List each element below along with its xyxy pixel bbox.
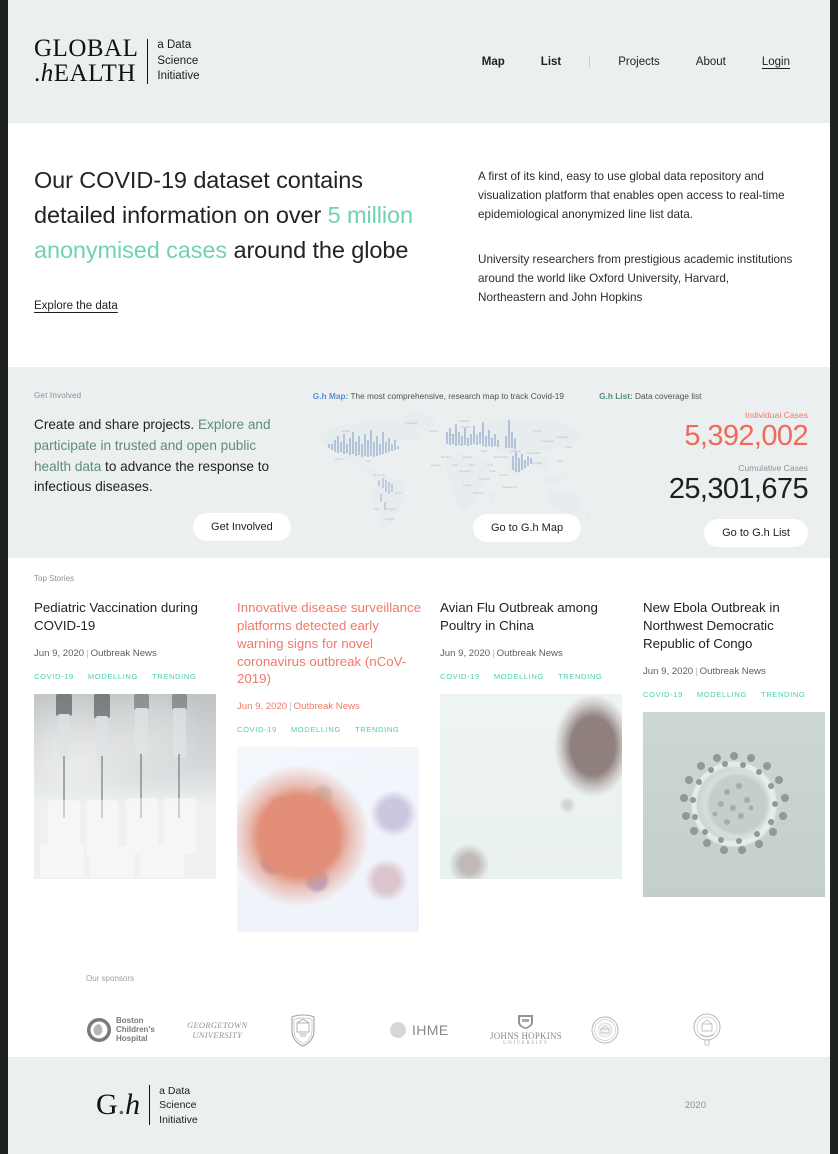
list-panel: G.h List: Data coverage list Individual … <box>599 391 808 532</box>
ihme-wordmark: IHME <box>412 1022 449 1038</box>
site-logo[interactable]: GLOBAL .hEALTH a Data Science Initiative <box>34 37 200 86</box>
footer-logo-divider <box>149 1085 150 1125</box>
svg-text:Tanzania: Tanzania <box>479 477 490 481</box>
story-title: Pediatric Vaccination during COVID-19 <box>34 599 219 635</box>
sponsor-line-1: JOHNS HOPKINS <box>490 1031 562 1041</box>
story-meta: Jun 9, 2020|Outbreak News <box>237 701 422 712</box>
hero-section: Our COVID-19 dataset contains detailed i… <box>8 123 830 334</box>
story-tag-list: COVID-19 MODELLING TRENDING <box>440 672 625 681</box>
story-source: Outbreak News <box>700 666 766 677</box>
svg-text:Ireland: Ireland <box>449 433 457 437</box>
story-tag-list: COVID-19 MODELLING TRENDING <box>643 690 828 699</box>
hero-heading-part2: around the globe <box>233 237 408 263</box>
svg-text:Venezuela: Venezuela <box>373 473 386 477</box>
story-card[interactable]: Avian Flu Outbreak among Poultry in Chin… <box>440 599 625 933</box>
boston-childrens-hospital-icon <box>86 1017 112 1043</box>
page-edge-left <box>0 0 8 1154</box>
hero-heading: Our COVID-19 dataset contains detailed i… <box>34 163 434 267</box>
story-source: Outbreak News <box>91 648 157 659</box>
world-map-thumbnail[interactable]: Canada Mexico Cuba Greenland Venezuela B… <box>313 410 581 538</box>
svg-text:Paraguay: Paraguay <box>385 507 397 511</box>
story-card-list: Pediatric Vaccination during COVID-19 Ju… <box>34 599 830 933</box>
svg-text:Chad: Chad <box>487 463 494 467</box>
story-tag-list: COVID-19 MODELLING TRENDING <box>237 725 422 734</box>
hero-paragraph-1: A first of its kind, easy to use global … <box>478 168 798 225</box>
nav-item-projects[interactable]: Projects <box>600 56 678 68</box>
story-tag[interactable]: TRENDING <box>558 672 602 681</box>
map-panel: G.h Map: The most comprehensive, researc… <box>313 391 581 532</box>
footer-wordmark: G.h <box>96 1090 140 1120</box>
map-panel-label: G.h Map: The most comprehensive, researc… <box>313 391 581 401</box>
svg-text:Mongolia: Mongolia <box>557 435 568 439</box>
individual-cases-value: 5,392,002 <box>599 421 808 451</box>
footer-copyright-year: 2020 <box>685 1100 804 1111</box>
story-tag[interactable]: COVID-19 <box>237 725 277 734</box>
story-card[interactable]: Innovative disease surveillance platform… <box>237 599 422 933</box>
sponsor-harvard-university-crest[interactable] <box>288 1013 389 1047</box>
svg-text:Kyrgyzstan: Kyrgyzstan <box>541 439 554 443</box>
svg-text:Russia: Russia <box>533 429 541 433</box>
sponsor-ihme[interactable]: IHME <box>389 1021 490 1039</box>
get-involved-panel: Get Involved Create and share projects. … <box>34 391 291 532</box>
logo-tagline-line3: Initiative <box>157 69 199 85</box>
svg-text:Greenland: Greenland <box>405 421 418 425</box>
logo-line-health: .hEALTH <box>34 62 138 87</box>
story-tag[interactable]: MODELLING <box>697 690 747 699</box>
story-tag[interactable]: COVID-19 <box>440 672 480 681</box>
get-involved-lead-part1: Create and share projects. <box>34 417 198 432</box>
svg-text:Laos: Laos <box>557 459 563 463</box>
logo-line-global: GLOBAL <box>34 37 138 62</box>
sponsor-line-1: GEORGETOWN <box>187 1020 247 1030</box>
nav-item-list[interactable]: List <box>523 56 579 68</box>
story-meta: Jun 9, 2020|Outbreak News <box>34 648 219 659</box>
hero-right-column: A first of its kind, easy to use global … <box>478 163 798 334</box>
sponsor-line-3: Hospital <box>116 1035 155 1044</box>
story-tag[interactable]: TRENDING <box>761 690 805 699</box>
svg-text:Brazil: Brazil <box>395 491 402 495</box>
svg-text:Angola: Angola <box>463 483 472 487</box>
list-panel-label-rest: Data coverage list <box>633 391 702 401</box>
footer-tagline-line3: Initiative <box>159 1113 198 1127</box>
virus-particle-photo <box>237 747 419 932</box>
sponsor-line-2: UNIVERSITY <box>490 1041 562 1046</box>
sponsor-university-seal-7[interactable] <box>692 1013 793 1047</box>
svg-text:Cameroon: Cameroon <box>459 469 472 473</box>
svg-text:Uruguay: Uruguay <box>385 517 396 521</box>
individual-cases-label: Individual Cases <box>599 410 808 420</box>
story-date: Jun 9, 2020 <box>440 648 490 659</box>
svg-text:Niger: Niger <box>469 463 475 467</box>
story-tag[interactable]: TRENDING <box>152 672 196 681</box>
feature-band: Get Involved Create and share projects. … <box>8 367 830 558</box>
story-date: Jun 9, 2020 <box>643 666 693 677</box>
svg-text:Somalia: Somalia <box>499 473 509 477</box>
georgetown-university-wordmark: GEORGETOWN UNIVERSITY <box>187 1020 247 1040</box>
svg-text:Madagascar: Madagascar <box>503 485 517 489</box>
logo-tagline: a Data Science Initiative <box>157 38 199 86</box>
story-title: Innovative disease surveillance platform… <box>237 599 422 689</box>
svg-text:Syria: Syria <box>481 449 487 453</box>
svg-text:Botswana: Botswana <box>473 491 485 495</box>
svg-text:Tunisia: Tunisia <box>463 455 472 459</box>
story-source: Outbreak News <box>294 701 360 712</box>
svg-text:Iceland: Iceland <box>429 429 438 433</box>
story-tag[interactable]: TRENDING <box>355 725 399 734</box>
footer-tagline-line1: a Data <box>159 1084 198 1098</box>
story-tag[interactable]: COVID-19 <box>34 672 74 681</box>
main-navigation: Map List Projects About Login <box>464 55 808 68</box>
story-tag[interactable]: COVID-19 <box>643 690 683 699</box>
footer-tagline-line2: Science <box>159 1098 198 1112</box>
cumulative-cases-label: Cumulative Cases <box>599 463 808 473</box>
top-stories-section: Top Stories Pediatric Vaccination during… <box>8 558 830 933</box>
svg-text:Belarus: Belarus <box>473 433 482 437</box>
get-involved-lead: Create and share projects. Explore and p… <box>34 415 291 499</box>
site-header: GLOBAL .hEALTH a Data Science Initiative… <box>8 0 830 123</box>
ihme-icon <box>389 1021 407 1039</box>
logo-dot: . <box>34 60 41 87</box>
story-tag[interactable]: MODELLING <box>494 672 544 681</box>
sponsors-eyebrow: Our sponsors <box>86 974 830 983</box>
pipettes-illustration <box>34 694 216 879</box>
hero-left-column: Our COVID-19 dataset contains detailed i… <box>34 163 434 334</box>
svg-text:Senegal: Senegal <box>431 463 441 467</box>
nav-item-map[interactable]: Map <box>464 56 523 68</box>
get-involved-button[interactable]: Get Involved <box>193 513 291 541</box>
get-involved-action-row: Get Involved <box>34 513 291 541</box>
cumulative-cases-stat: Cumulative Cases 25,301,675 <box>599 463 808 504</box>
story-date: Jun 9, 2020 <box>237 701 287 712</box>
svg-text:Chile: Chile <box>373 507 379 511</box>
explore-the-data-link[interactable]: Explore the data <box>34 300 118 312</box>
sponsor-johns-hopkins-university[interactable]: JOHNS HOPKINS UNIVERSITY <box>490 1014 591 1046</box>
go-to-gh-list-button[interactable]: Go to G.h List <box>704 519 808 547</box>
map-panel-label-rest: The most comprehensive, research map to … <box>348 391 564 401</box>
sponsor-line-2: UNIVERSITY <box>187 1030 247 1040</box>
nav-divider <box>589 55 590 68</box>
story-date: Jun 9, 2020 <box>34 648 84 659</box>
footer-logo[interactable]: G.h a Data Science Initiative <box>96 1084 198 1127</box>
list-action-row: Go to G.h List <box>599 519 808 547</box>
story-title: New Ebola Outbreak in Northwest Democrat… <box>643 599 828 653</box>
list-panel-label-key: G.h List: <box>599 391 633 401</box>
electron-micrograph-photo <box>643 712 825 897</box>
nav-item-about[interactable]: About <box>678 56 744 68</box>
page-edge-right <box>830 0 838 1154</box>
footer-tagline: a Data Science Initiative <box>159 1084 198 1127</box>
top-stories-eyebrow: Top Stories <box>34 574 830 583</box>
boston-childrens-hospital-wordmark: Boston Children's Hospital <box>116 1017 155 1044</box>
logo-h: h <box>41 60 54 87</box>
sponsor-georgetown-university[interactable]: GEORGETOWN UNIVERSITY <box>187 1020 288 1040</box>
logo-tagline-line1: a Data <box>157 38 199 54</box>
svg-text:Bangladesh: Bangladesh <box>527 451 541 455</box>
get-involved-eyebrow: Get Involved <box>34 391 291 400</box>
sponsor-boston-childrens-hospital[interactable]: Boston Children's Hospital <box>86 1017 187 1044</box>
logo-tagline-line2: Science <box>157 54 199 70</box>
sponsor-university-seal-6[interactable] <box>591 1016 692 1044</box>
story-tag[interactable]: MODELLING <box>291 725 341 734</box>
story-tag-list: COVID-19 MODELLING TRENDING <box>34 672 219 681</box>
university-seal-6-icon <box>591 1016 619 1044</box>
story-card[interactable]: New Ebola Outbreak in Northwest Democrat… <box>643 599 828 933</box>
story-meta: Jun 9, 2020|Outbreak News <box>440 648 625 659</box>
story-card[interactable]: Pediatric Vaccination during COVID-19 Ju… <box>34 599 219 933</box>
johns-hopkins-wordmark: JOHNS HOPKINS UNIVERSITY <box>490 1014 562 1046</box>
johns-hopkins-shield-icon <box>517 1014 534 1029</box>
footer-logo-h: h <box>125 1088 140 1121</box>
cumulative-cases-value: 25,301,675 <box>599 474 808 504</box>
stat-spacer <box>599 451 808 463</box>
logo-wordmark: GLOBAL .hEALTH <box>34 37 138 86</box>
svg-text:Mali: Mali <box>453 463 458 467</box>
svg-text:Sri Lanka: Sri Lanka <box>531 461 543 465</box>
map-action-row: Go to G.h Map <box>473 514 581 542</box>
list-panel-label: G.h List: Data coverage list <box>599 391 808 401</box>
sponsor-logo-row: Boston Children's Hospital GEORGETOWN UN… <box>86 1013 830 1047</box>
svg-text:Mexico: Mexico <box>335 457 344 461</box>
page-root: GLOBAL .hEALTH a Data Science Initiative… <box>8 0 830 1154</box>
nav-item-login[interactable]: Login <box>744 56 808 68</box>
site-footer: G.h a Data Science Initiative 2020 <box>8 1057 830 1154</box>
map-panel-label-key: G.h Map: <box>313 391 349 401</box>
virion-spikes-illustration <box>643 712 825 897</box>
logo-divider <box>147 39 148 84</box>
svg-text:China: China <box>565 445 572 449</box>
story-source: Outbreak News <box>497 648 563 659</box>
go-to-gh-map-button[interactable]: Go to G.h Map <box>473 514 581 542</box>
hero-heading-part1: Our COVID-19 dataset contains detailed i… <box>34 167 363 228</box>
svg-text:Iraq: Iraq <box>495 443 500 447</box>
hero-paragraph-2: University researchers from prestigious … <box>478 251 798 308</box>
sponsors-section: Our sponsors Boston Children's Hospital … <box>8 932 830 1047</box>
story-tag[interactable]: MODELLING <box>88 672 138 681</box>
svg-text:Morocco: Morocco <box>441 455 452 459</box>
story-title: Avian Flu Outbreak among Poultry in Chin… <box>440 599 625 635</box>
svg-text:Canada: Canada <box>341 429 351 433</box>
svg-text:Sudan: Sudan <box>489 469 497 473</box>
svg-text:Sweden: Sweden <box>461 425 471 429</box>
pipettes-photo <box>34 694 216 879</box>
footer-logo-g: G <box>96 1088 118 1121</box>
individual-cases-stat: Individual Cases 5,392,002 <box>599 410 808 451</box>
story-meta: Jun 9, 2020|Outbreak News <box>643 666 828 677</box>
svg-text:Saudi Arabia: Saudi Arabia <box>493 455 508 459</box>
university-seal-7-icon <box>692 1013 722 1047</box>
culture-stain-photo <box>440 694 622 879</box>
harvard-crest-icon <box>288 1013 318 1047</box>
logo-ealth: EALTH <box>54 60 136 87</box>
svg-text:Svalbard: Svalbard <box>459 419 470 423</box>
svg-text:Cuba: Cuba <box>365 459 372 463</box>
svg-text:Pakistan: Pakistan <box>511 449 522 453</box>
